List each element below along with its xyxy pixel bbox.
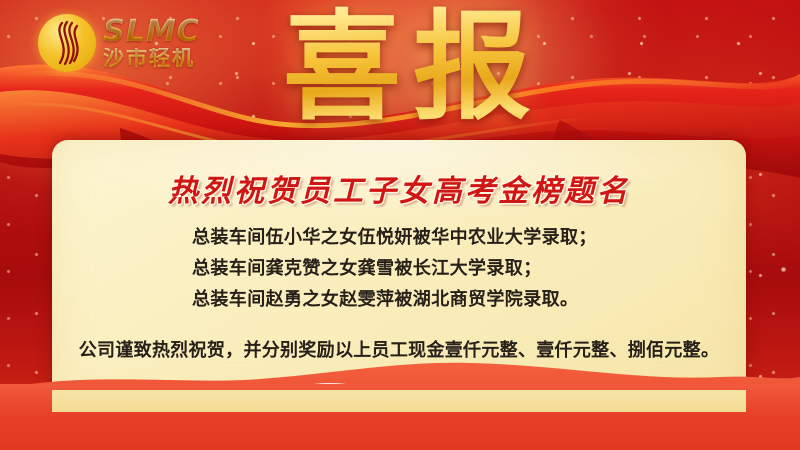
list-item: 总装车间伍小华之女伍悦妍被华中农业大学录取； — [52, 222, 746, 253]
page-title: 喜报 — [0, 6, 800, 130]
subtitle-banner: 热烈祝贺员工子女高考金榜题名 — [52, 166, 746, 210]
panel-foot — [52, 390, 746, 412]
list-item: 总装车间龚克赞之女龚雪被长江大学录取； — [52, 253, 746, 284]
list-item: 总装车间赵勇之女赵雯萍被湖北商贸学院录取。 — [52, 284, 746, 315]
celebration-poster: SLMC 沙市轻机 喜报 热烈祝贺员工子女高考金榜题名 总装车间伍小华之女伍悦妍… — [0, 0, 800, 450]
announcement-list: 总装车间伍小华之女伍悦妍被华中农业大学录取； 总装车间龚克赞之女龚雪被长江大学录… — [52, 222, 746, 315]
